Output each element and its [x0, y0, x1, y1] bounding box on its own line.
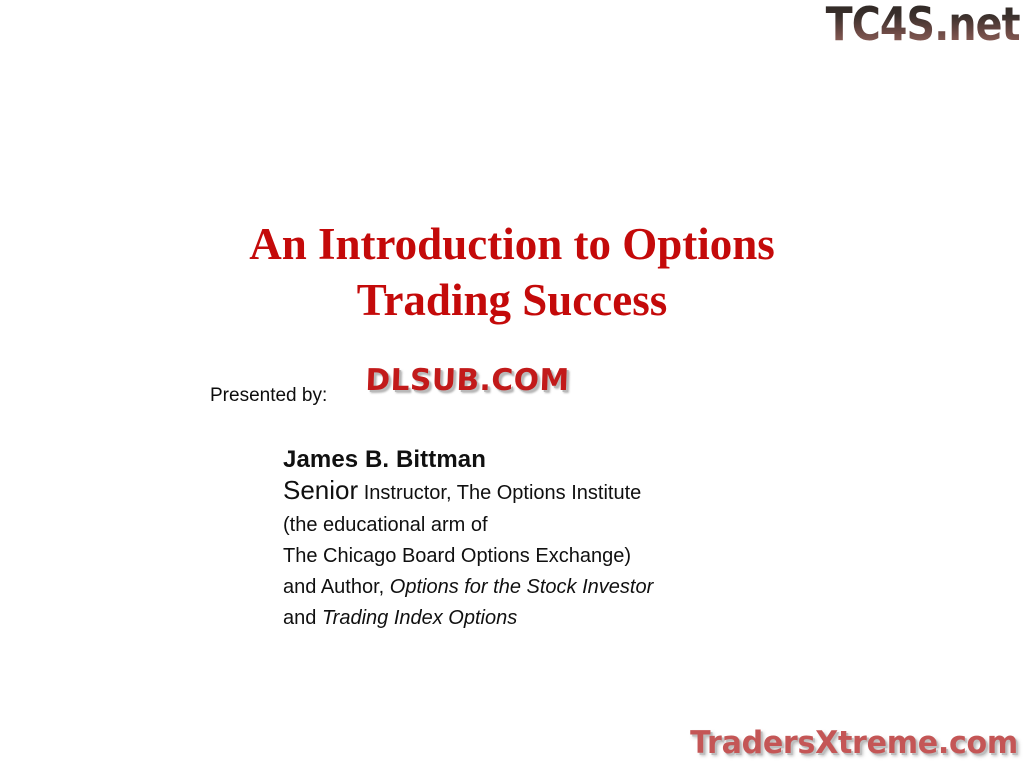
- book-title-1: Options for the Stock Investor: [390, 576, 653, 598]
- presentation-slide: TC4S.net An Introduction to Options Trad…: [0, 0, 1024, 768]
- presenter-name: James B. Bittman: [283, 444, 903, 475]
- slide-title: An Introduction to Options Trading Succe…: [0, 216, 1024, 328]
- presenter-author-line-2: and Trading Index Options: [283, 603, 903, 634]
- author-label-2: and: [283, 607, 316, 629]
- presenter-affiliation-line-1: (the educational arm of: [283, 510, 903, 541]
- presenter-affiliation-line-2: The Chicago Board Options Exchange): [283, 541, 903, 572]
- presented-by-label: Presented by:: [210, 384, 327, 408]
- slide-title-line-2: Trading Success: [0, 272, 1024, 328]
- author-label-1: and Author,: [283, 576, 384, 598]
- book-title-2: Trading Index Options: [322, 607, 517, 629]
- presenter-role-prefix: Senior: [283, 475, 358, 505]
- presenter-author-line-1: and Author, Options for the Stock Invest…: [283, 572, 903, 603]
- presenter-block: James B. Bittman Senior Instructor, The …: [283, 444, 903, 634]
- watermark-tc4s: TC4S.net: [826, 0, 1020, 50]
- presenter-role-suffix: Instructor, The Options Institute: [364, 482, 642, 504]
- slide-title-line-1: An Introduction to Options: [0, 216, 1024, 272]
- watermark-tradersxtreme: TradersXtreme.com: [690, 724, 1018, 762]
- watermark-dlsub: DLSUB.COM: [365, 363, 570, 399]
- presenter-role: Senior Instructor, The Options Institute: [283, 475, 903, 510]
